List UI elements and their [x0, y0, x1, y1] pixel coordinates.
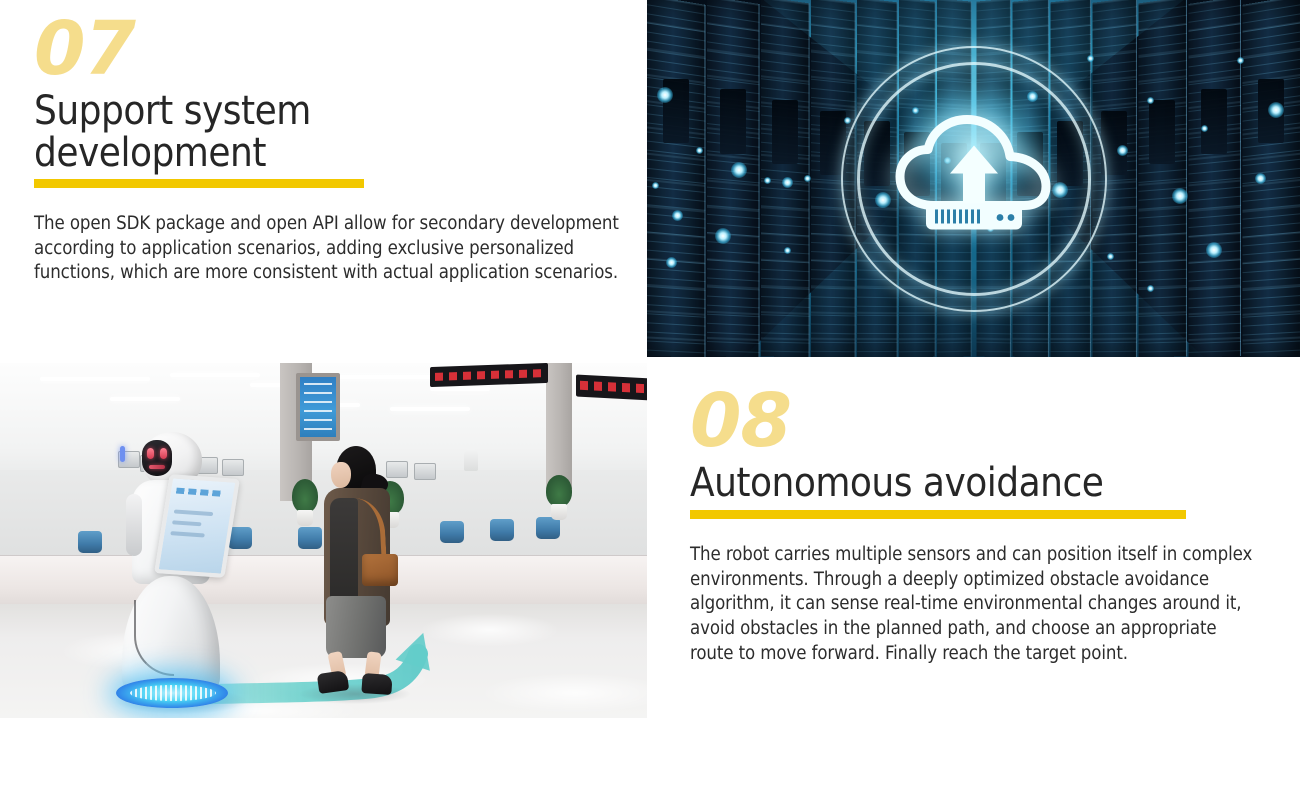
network-node-dot [1147, 97, 1154, 104]
network-node-dot [1268, 102, 1284, 118]
datacenter-scene [647, 0, 1300, 357]
section-08-body: The robot carries multiple sensors and c… [690, 543, 1260, 666]
network-node-dot [1087, 55, 1094, 62]
network-node-dot [672, 210, 683, 221]
network-node-dot [1255, 173, 1266, 184]
robot-eye-right [160, 448, 167, 459]
network-node-dot [764, 177, 771, 184]
robot-mouth [149, 465, 165, 469]
network-node-dot [782, 177, 793, 188]
lobby-plant-pot [551, 504, 567, 520]
network-node-dot [844, 117, 851, 124]
rack-module [720, 89, 746, 153]
tablet-toolbar [176, 488, 223, 497]
robot-led-segments [130, 685, 216, 701]
robot-face-screen [142, 440, 172, 476]
waiting-stool [78, 531, 102, 553]
woman-trousers [326, 596, 386, 658]
network-node-dot [1117, 145, 1128, 156]
waiting-stool [490, 519, 514, 541]
network-node-dot [715, 228, 731, 244]
section-07-accent-rule [34, 179, 364, 188]
lobby-plant [546, 475, 572, 507]
network-node-dot [696, 147, 703, 154]
robot-ear-light [120, 446, 125, 462]
network-node-dot [657, 87, 673, 103]
section-08-accent-rule [690, 510, 1186, 519]
lobby-pillar [546, 363, 572, 489]
server-rack [1188, 0, 1240, 357]
server-rack [647, 0, 705, 357]
network-node-dot [1201, 125, 1208, 132]
robot-eye-left [147, 448, 154, 459]
rack-module [1149, 100, 1175, 164]
tablet-line [170, 532, 204, 538]
network-node-dot [731, 162, 747, 178]
slide-canvas: 07 Support system development The open S… [0, 0, 1300, 811]
ceiling-light [430, 387, 490, 391]
network-node-dot [804, 175, 811, 182]
section-08: 08 Autonomous avoidance The robot carrie… [690, 386, 1270, 666]
lobby-info-display [296, 373, 340, 441]
network-node-dot [1147, 285, 1154, 292]
section-07-heading: Support system development [34, 90, 649, 174]
ceiling-light [390, 407, 470, 411]
section-07-number: 07 [34, 14, 649, 84]
robot-tablet-screen[interactable] [154, 474, 240, 578]
server-rack [1138, 0, 1187, 357]
woman-shoulder-bag [362, 554, 398, 586]
walking-woman [300, 446, 420, 696]
network-node-dot [1237, 57, 1244, 64]
rack-module [772, 100, 798, 164]
robot-arm [126, 494, 142, 556]
cloud-upload-icon [890, 113, 1058, 239]
section-07-body: The open SDK package and open API allow … [34, 212, 648, 286]
robot-lobby-image [0, 363, 647, 718]
woman-face [331, 462, 351, 488]
section-08-number: 08 [690, 386, 1270, 456]
network-node-dot [1206, 242, 1222, 258]
lobby-teller [464, 449, 478, 471]
datacenter-image [647, 0, 1300, 357]
ceiling-light [40, 377, 150, 381]
network-node-dot [1172, 188, 1188, 204]
service-robot [118, 432, 236, 710]
woman-boot-back [317, 670, 349, 694]
network-node-dot [784, 247, 791, 254]
network-node-dot [1107, 253, 1114, 260]
server-rack [707, 0, 759, 357]
tablet-line [172, 521, 201, 527]
server-rack [1243, 0, 1300, 357]
network-node-dot [666, 257, 677, 268]
waiting-stool [440, 521, 464, 543]
lobby-led-board [430, 363, 548, 387]
section-07: 07 Support system development The open S… [34, 14, 649, 286]
network-node-dot [652, 182, 659, 189]
waiting-stool [536, 517, 560, 539]
rack-module [1201, 89, 1227, 153]
section-08-heading: Autonomous avoidance [690, 462, 1270, 504]
ceiling-light [170, 373, 260, 377]
ceiling-light [110, 397, 180, 401]
woman-boot-front [361, 673, 392, 695]
tablet-line [174, 510, 213, 517]
